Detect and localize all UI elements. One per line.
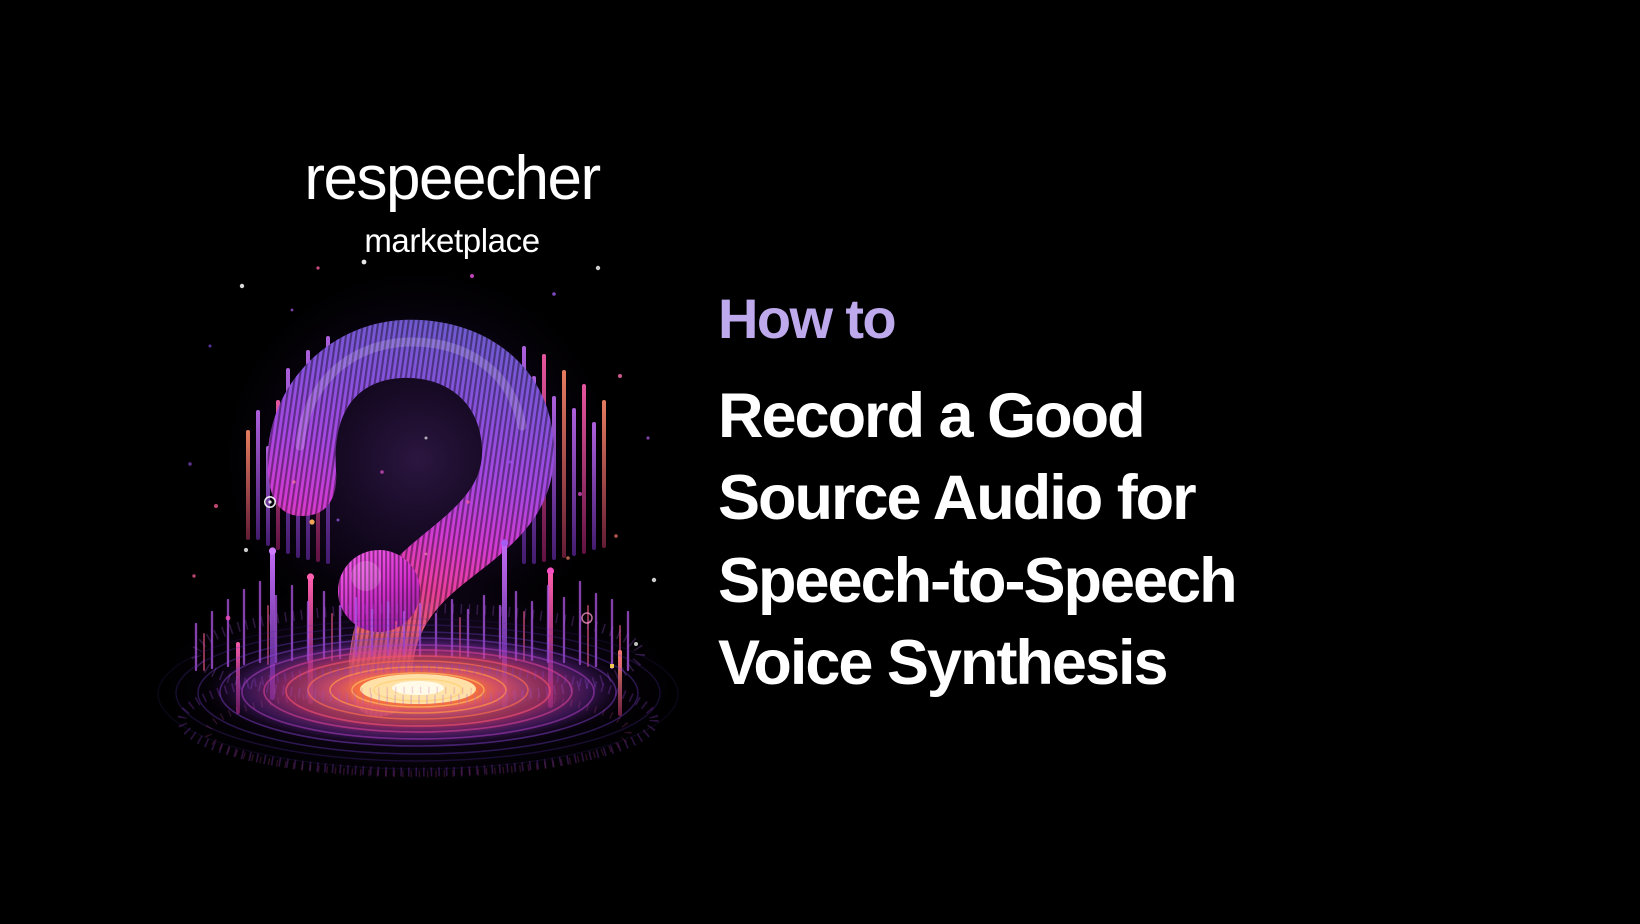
glow-disc-base: [156, 578, 680, 786]
question-mark-artwork: [150, 250, 690, 810]
poster-canvas: respeecher marketplace How to Record a G…: [0, 0, 1640, 924]
brand-subtitle: marketplace: [222, 224, 682, 257]
headline-line-3: Speech-to-Speech: [718, 540, 1458, 623]
page-title: Record a Good Source Audio for Speech-to…: [718, 375, 1458, 705]
headline-line-1: Record a Good: [718, 375, 1458, 458]
headline-block: How to Record a Good Source Audio for Sp…: [718, 288, 1458, 705]
brand-name: respeecher: [222, 148, 682, 210]
headline-line-4: Voice Synthesis: [718, 622, 1458, 705]
eyebrow-how-to: How to: [718, 288, 1458, 351]
headline-line-2: Source Audio for: [718, 457, 1458, 540]
brand-logo: respeecher marketplace: [222, 148, 682, 257]
